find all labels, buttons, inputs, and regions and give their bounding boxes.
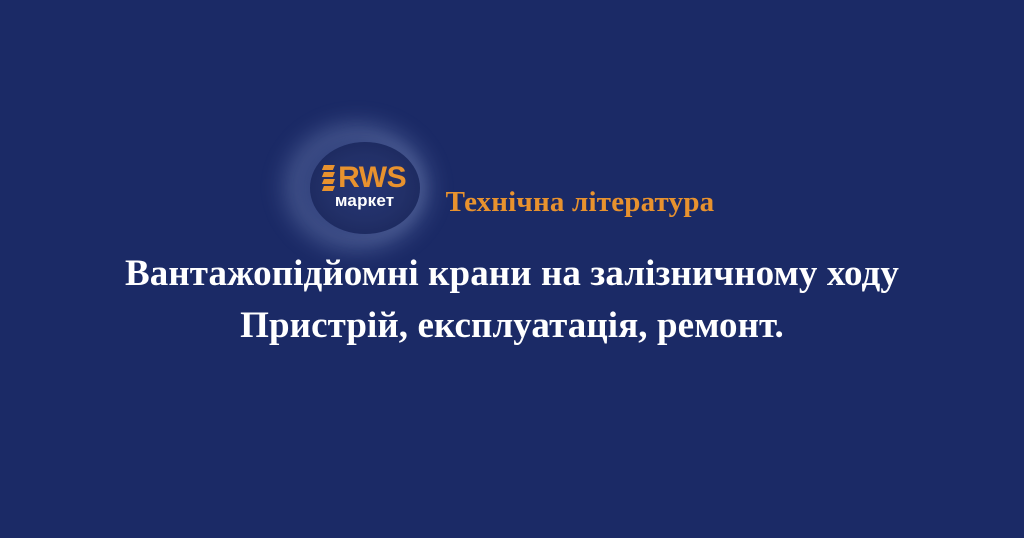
- banner: RWS маркет Технічна література Вантажопі…: [0, 0, 1024, 538]
- page-title: Вантажопідйомні крани на залізничному хо…: [0, 248, 1024, 352]
- logo-primary-text: RWS: [338, 165, 406, 191]
- brand-row: RWS маркет Технічна література: [0, 140, 1024, 236]
- rws-market-logo[interactable]: RWS маркет: [310, 142, 420, 234]
- page-title-line-2: Пристрій, експлуатація, ремонт.: [0, 300, 1024, 352]
- diagonal-stripes-icon: [323, 165, 335, 191]
- logo-inner: RWS маркет: [323, 165, 406, 209]
- category-kicker: Технічна література: [446, 186, 715, 219]
- page-title-line-1: Вантажопідйомні крани на залізничному хо…: [0, 248, 1024, 300]
- logo-top-row: RWS: [323, 165, 406, 191]
- logo-secondary-text: маркет: [335, 192, 394, 209]
